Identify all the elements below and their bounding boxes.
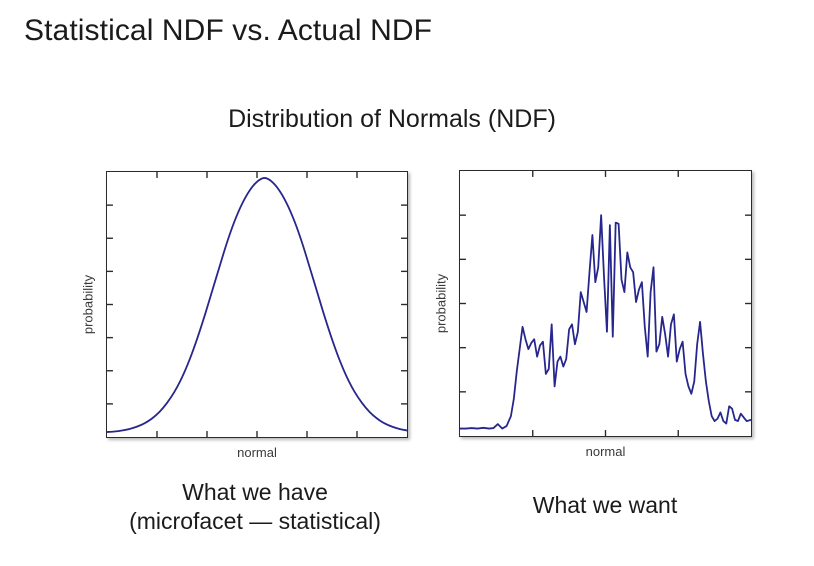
chart-group-title-text: Distribution of Normals (NDF) — [228, 105, 556, 134]
data-curve — [107, 178, 407, 432]
plot-frame-left — [106, 171, 408, 438]
data-curve — [460, 215, 751, 428]
caption-left-line2: (microfacet — statistical) — [30, 507, 480, 536]
caption-right: What we want — [455, 491, 755, 520]
y-axis-label-right: probability — [434, 204, 449, 404]
caption-left-line1: What we have — [30, 478, 480, 507]
chart-group-title: Distribution of Normals (NDF) — [0, 105, 814, 134]
x-axis-label-left: normal — [106, 445, 408, 460]
page-title: Statistical NDF vs. Actual NDF — [24, 14, 432, 48]
chart-panel-left: probability normal — [106, 171, 408, 438]
slide-canvas: Statistical NDF vs. Actual NDF Distribut… — [0, 0, 814, 566]
y-axis-label-left: probability — [81, 205, 96, 405]
caption-right-line1: What we want — [455, 491, 755, 520]
chart-panel-right: probability normal — [459, 170, 752, 437]
plot-frame-right — [459, 170, 752, 437]
gaussian-ndf-plot — [107, 172, 407, 437]
x-axis-label-right: normal — [459, 444, 752, 459]
caption-left: What we have (microfacet — statistical) — [30, 478, 480, 536]
actual-ndf-plot — [460, 171, 751, 436]
